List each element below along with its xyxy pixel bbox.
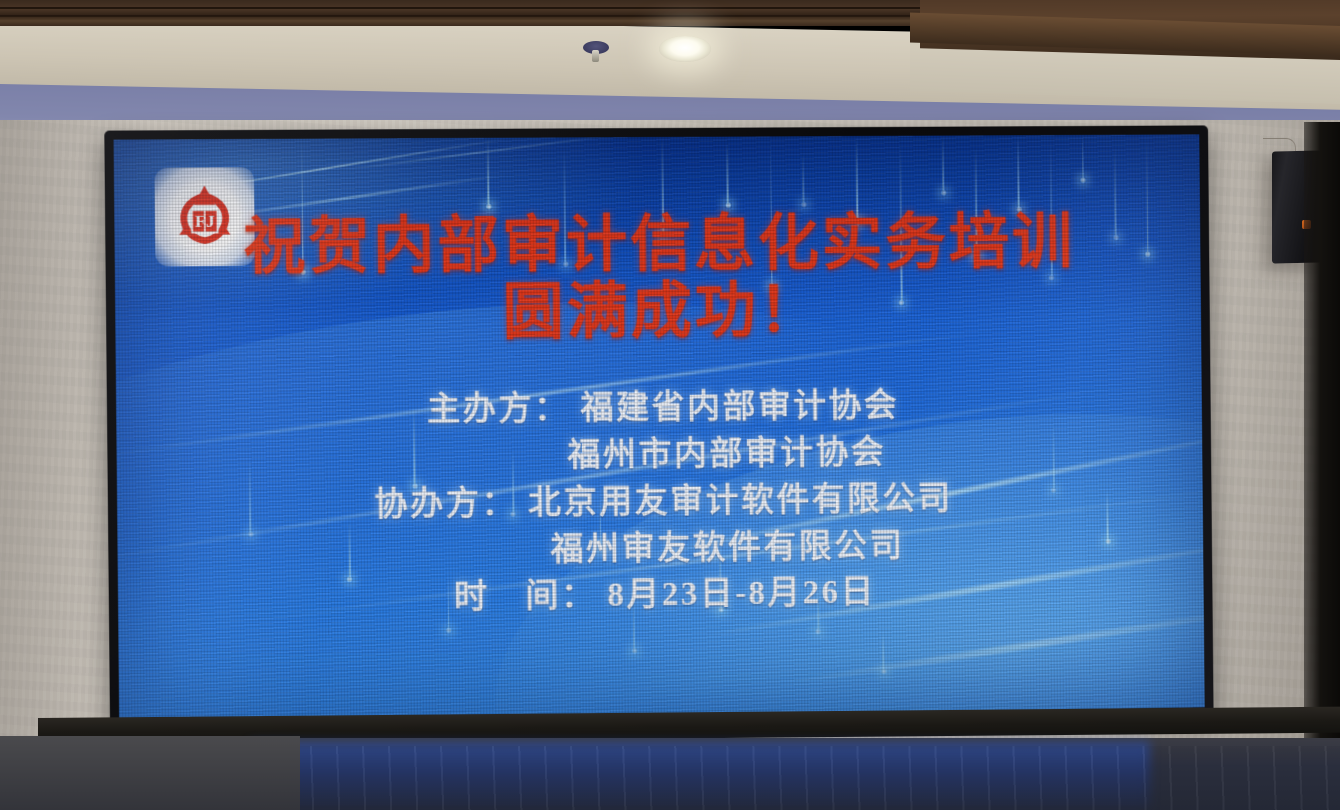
- slide-content: FJ 祝贺内部审计信息化实务培训 圆满成功！ 主办方： 福建省内部审计协会 福州…: [114, 134, 1205, 722]
- slide-title: 祝贺内部审计信息化实务培训 圆满成功！: [114, 212, 1201, 349]
- title-line-1: 祝贺内部审计信息化实务培训: [243, 209, 1075, 282]
- floor-left-step: [0, 736, 300, 810]
- led-video-wall[interactable]: FJ 祝贺内部审计信息化实务培训 圆满成功！ 主办方： 福建省内部审计协会 福州…: [104, 125, 1213, 734]
- conference-room-scene: FJ 祝贺内部审计信息化实务培训 圆满成功！ 主办方： 福建省内部审计协会 福州…: [0, 0, 1340, 810]
- slide-details: 主办方： 福建省内部审计协会 福州市内部审计协会 协办方： 北京用友审计软件有限…: [116, 380, 1204, 626]
- title-line-2: 圆满成功！: [115, 278, 1201, 349]
- ceiling-light-icon: [659, 36, 711, 62]
- screen-surface: FJ 祝贺内部审计信息化实务培训 圆满成功！ 主办方： 福建省内部审计协会 福州…: [114, 134, 1205, 722]
- sprinkler-stem: [592, 50, 599, 62]
